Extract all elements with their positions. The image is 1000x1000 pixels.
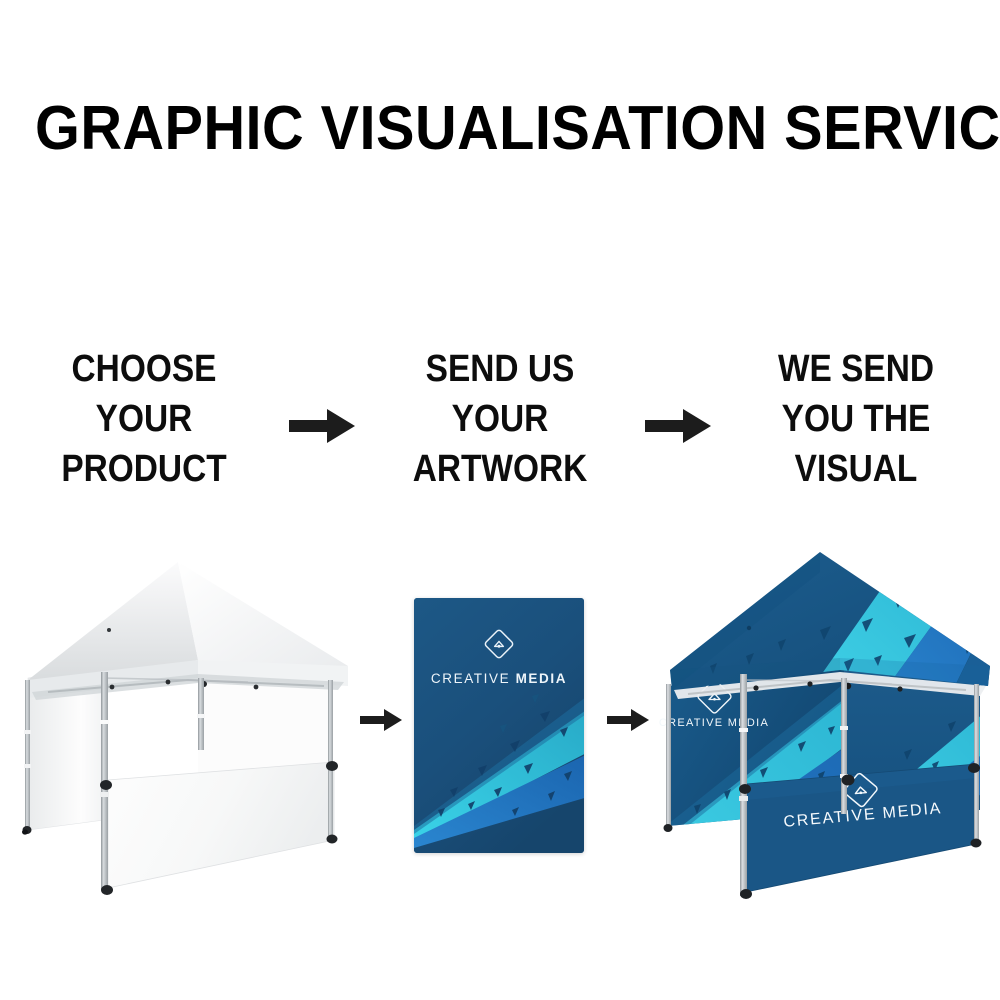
artwork-brand-text: CREATIVE MEDIA	[414, 671, 584, 686]
diamond-logo-icon	[481, 626, 517, 662]
side-wall-brand-text: CREATIVE MEDIA	[659, 717, 769, 729]
step-arrow-1-container	[262, 344, 382, 494]
artwork-logo-block: CREATIVE MEDIA	[414, 626, 584, 686]
blank-white-gazebo	[8, 540, 358, 930]
step-line: WE SEND	[752, 344, 960, 394]
step-line: YOUR	[40, 394, 248, 444]
right-arrow-icon	[607, 709, 649, 731]
step-label-send-us-your-artwork: SEND US YOUR ARTWORK	[396, 344, 604, 494]
step-line: CHOOSE	[40, 344, 248, 394]
visuals-row: CREATIVE MEDIA	[0, 520, 1000, 940]
brand-secondary: MEDIA	[516, 671, 568, 686]
step-arrow-2-container	[618, 344, 738, 494]
right-arrow-icon	[645, 409, 711, 443]
brand-primary: CREATIVE	[431, 671, 510, 686]
creative-media-artwork-panel: CREATIVE MEDIA	[414, 598, 584, 853]
step-line: ARTWORK	[396, 444, 604, 494]
step-label-choose-your-product: CHOOSE YOUR PRODUCT	[40, 344, 248, 494]
step-line: VISUAL	[752, 444, 960, 494]
right-arrow-icon	[289, 409, 355, 443]
page-title: GRAPHIC VISUALISATION SERVICE	[35, 97, 965, 161]
step-line: YOUR	[396, 394, 604, 444]
printed-creative-media-gazebo: CREATIVE MEDIA	[648, 538, 998, 930]
step-line: YOU THE	[752, 394, 960, 444]
right-arrow-icon	[360, 709, 402, 731]
step-line: SEND US	[396, 344, 604, 394]
steps-row: CHOOSE YOUR PRODUCT SEND US YOUR ARTWORK…	[0, 344, 1000, 494]
step-label-we-send-you-the-visual: WE SEND YOU THE VISUAL	[752, 344, 960, 494]
step-line: PRODUCT	[40, 444, 248, 494]
